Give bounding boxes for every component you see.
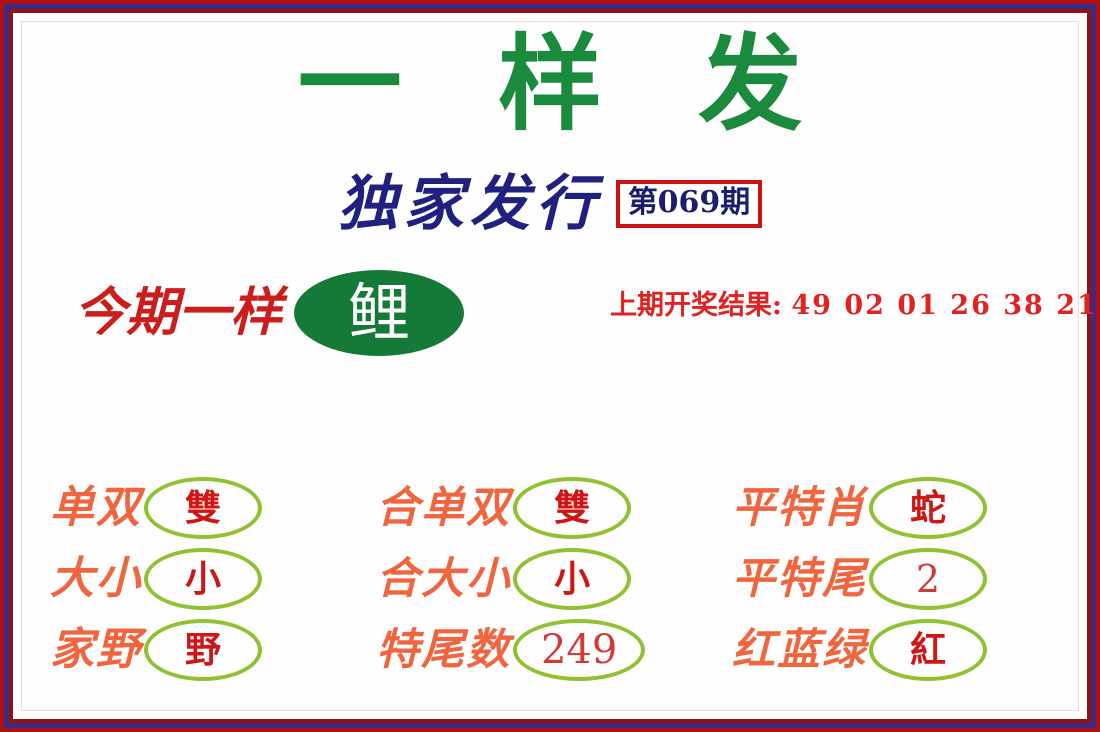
prediction-value: 蛇	[910, 490, 946, 526]
tip-row: 今期一样 鲤	[74, 270, 464, 356]
prediction-value: 249	[541, 630, 617, 670]
prediction-value: 紅	[910, 632, 946, 668]
prediction-value-bubble: 2	[869, 548, 987, 610]
prediction-column-2: 合单双 雙 合大小 小	[376, 474, 732, 687]
prediction-label: 合大小	[376, 558, 511, 601]
page-title: 一 样 发	[22, 28, 1078, 140]
poster-frame-navy: 一 样 发 独家发行 第069期 今期一样 鲤	[4, 4, 1096, 728]
prediction-column-3: 平特肖 蛇 平特尾 2	[732, 474, 1068, 687]
prediction-row: 特尾数 249	[376, 616, 732, 684]
prediction-row: 红蓝绿 紅	[732, 616, 1068, 684]
prediction-value-bubble: 雙	[144, 477, 262, 539]
prediction-value-bubble: 蛇	[869, 477, 987, 539]
prediction-row: 合大小 小	[376, 545, 732, 613]
prediction-row: 单双 雙	[50, 474, 376, 542]
prediction-value-bubble: 小	[144, 548, 262, 610]
poster-canvas: 一 样 发 独家发行 第069期 今期一样 鲤	[22, 22, 1078, 710]
poster-frame-dark-red: 一 样 发 独家发行 第069期 今期一样 鲤	[9, 9, 1091, 723]
prediction-row: 家野 野	[50, 616, 376, 684]
last-draw-numbers: 49 02 01 26 38 21+23	[791, 290, 1100, 321]
prediction-value: 野	[185, 632, 221, 668]
prediction-row: 大小 小	[50, 545, 376, 613]
prediction-value-bubble: 小	[513, 548, 631, 610]
prediction-value: 2	[916, 560, 940, 598]
subtitle: 独家发行	[338, 174, 602, 234]
prediction-row: 平特尾 2	[732, 545, 1068, 613]
prediction-row: 合单双 雙	[376, 474, 732, 542]
prediction-label: 特尾数	[376, 629, 511, 672]
tip-value: 鲤	[348, 282, 410, 344]
prediction-value-bubble: 249	[513, 619, 645, 681]
prediction-label: 平特尾	[732, 558, 867, 601]
subtitle-row: 独家发行 第069期	[22, 174, 1078, 234]
poster-frame-outer: 一 样 发 独家发行 第069期 今期一样 鲤	[0, 0, 1100, 732]
prediction-row: 平特肖 蛇	[732, 474, 1068, 542]
prediction-value-bubble: 紅	[869, 619, 987, 681]
prediction-label: 家野	[50, 628, 142, 672]
prediction-label: 平特肖	[732, 487, 867, 530]
prediction-value-bubble: 野	[144, 619, 262, 681]
issue-badge: 第069期	[616, 180, 763, 228]
last-draw-label: 上期开奖结果:	[610, 290, 782, 321]
last-draw-result: 上期开奖结果: 49 02 01 26 38 21+23	[610, 292, 1100, 319]
prediction-label: 单双	[50, 486, 142, 530]
issue-number-label: 第069期	[628, 187, 751, 219]
prediction-value: 雙	[185, 490, 221, 526]
tip-label: 今期一样	[74, 287, 282, 339]
prediction-value: 小	[185, 561, 221, 597]
prediction-label: 红蓝绿	[732, 629, 867, 672]
poster-frame-white: 一 样 发 独家发行 第069期 今期一样 鲤	[13, 13, 1087, 719]
prediction-grid: 单双 雙 大小 小	[50, 474, 1068, 687]
prediction-label: 合单双	[376, 487, 511, 530]
prediction-column-1: 单双 雙 大小 小	[50, 474, 376, 687]
prediction-value: 雙	[554, 490, 590, 526]
prediction-value-bubble: 雙	[513, 477, 631, 539]
prediction-label: 大小	[50, 557, 142, 601]
prediction-value: 小	[554, 561, 590, 597]
poster-frame-pink-hairline: 一 样 发 独家发行 第069期 今期一样 鲤	[21, 21, 1079, 711]
tip-value-bubble: 鲤	[294, 270, 464, 356]
